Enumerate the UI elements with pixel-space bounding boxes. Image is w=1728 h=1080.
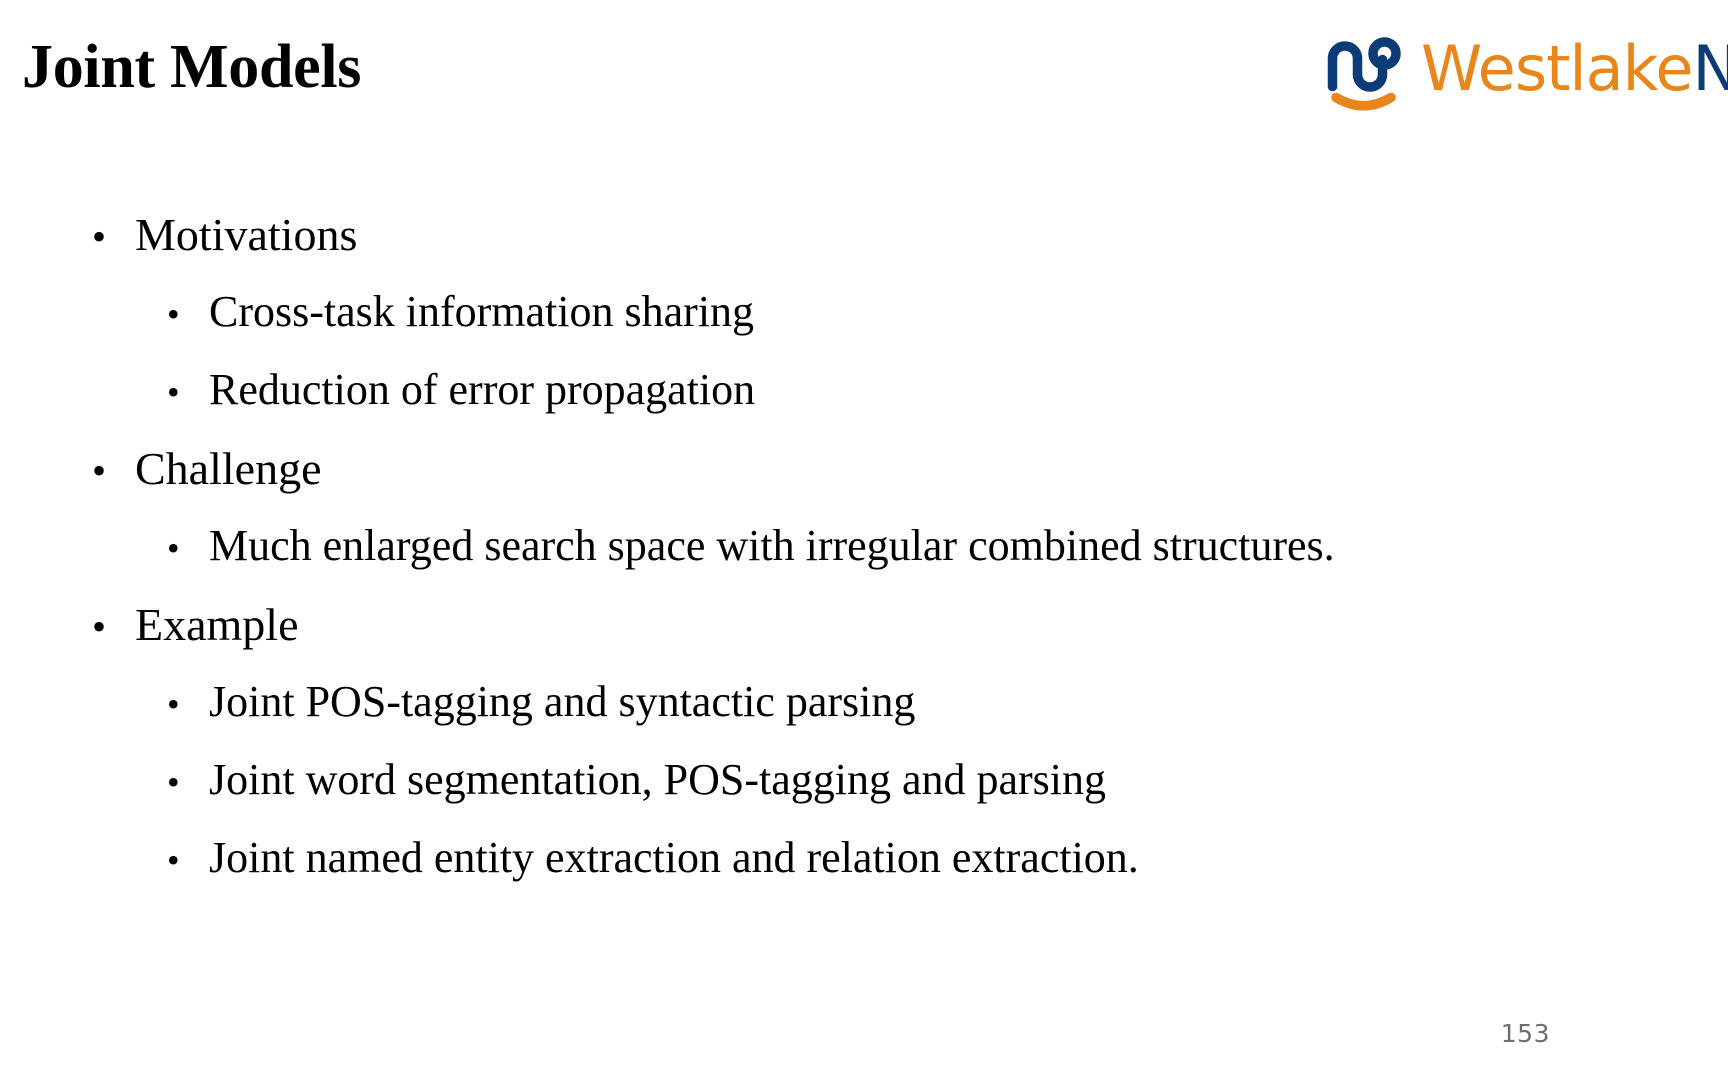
list-item: • Cross-task information sharing — [0, 286, 1728, 364]
bullet-list: • Motivations • Cross-task information s… — [0, 208, 1728, 910]
list-item-label: Motivations — [135, 208, 357, 261]
page-number: 153 — [1501, 1019, 1550, 1048]
list-item-label: Joint named entity extraction and relati… — [209, 832, 1139, 883]
bullet-icon: • — [92, 217, 135, 257]
list-item: • Joint named entity extraction and rela… — [0, 832, 1728, 910]
list-item: • Challenge — [0, 442, 1728, 520]
list-item: • Motivations — [0, 208, 1728, 286]
list-item-label: Much enlarged search space with irregula… — [209, 520, 1335, 571]
bullet-icon: • — [167, 530, 209, 566]
list-item-label: Reduction of error propagation — [209, 364, 755, 415]
westlake-nlp-mark-icon — [1325, 31, 1403, 113]
list-item-label: Cross-task information sharing — [209, 286, 754, 337]
list-item-label: Joint word segmentation, POS-tagging and… — [209, 754, 1106, 805]
bullet-icon: • — [167, 764, 209, 800]
slide-canvas: Joint Models WestlakeN — [0, 0, 1728, 1080]
list-item: • Example — [0, 598, 1728, 676]
list-item-label: Joint POS-tagging and syntactic parsing — [209, 676, 915, 727]
page-title: Joint Models — [22, 36, 361, 98]
list-item: • Joint word segmentation, POS-tagging a… — [0, 754, 1728, 832]
list-item: • Reduction of error propagation — [0, 364, 1728, 442]
bullet-icon: • — [92, 451, 135, 491]
list-item: • Much enlarged search space with irregu… — [0, 520, 1728, 598]
bullet-icon: • — [167, 296, 209, 332]
bullet-icon: • — [167, 842, 209, 878]
list-item-label: Challenge — [135, 442, 322, 495]
logo-wordmark-nlp: N — [1692, 32, 1728, 105]
logo-wordmark: WestlakeN — [1421, 38, 1728, 100]
bullet-icon: • — [167, 686, 209, 722]
bullet-icon: • — [167, 374, 209, 410]
westlake-nlp-logo: WestlakeN — [1325, 24, 1728, 120]
list-item: • Joint POS-tagging and syntactic parsin… — [0, 676, 1728, 754]
list-item-label: Example — [135, 598, 299, 651]
logo-wordmark-westlake: Westlake — [1421, 32, 1692, 105]
bullet-icon: • — [92, 607, 135, 647]
